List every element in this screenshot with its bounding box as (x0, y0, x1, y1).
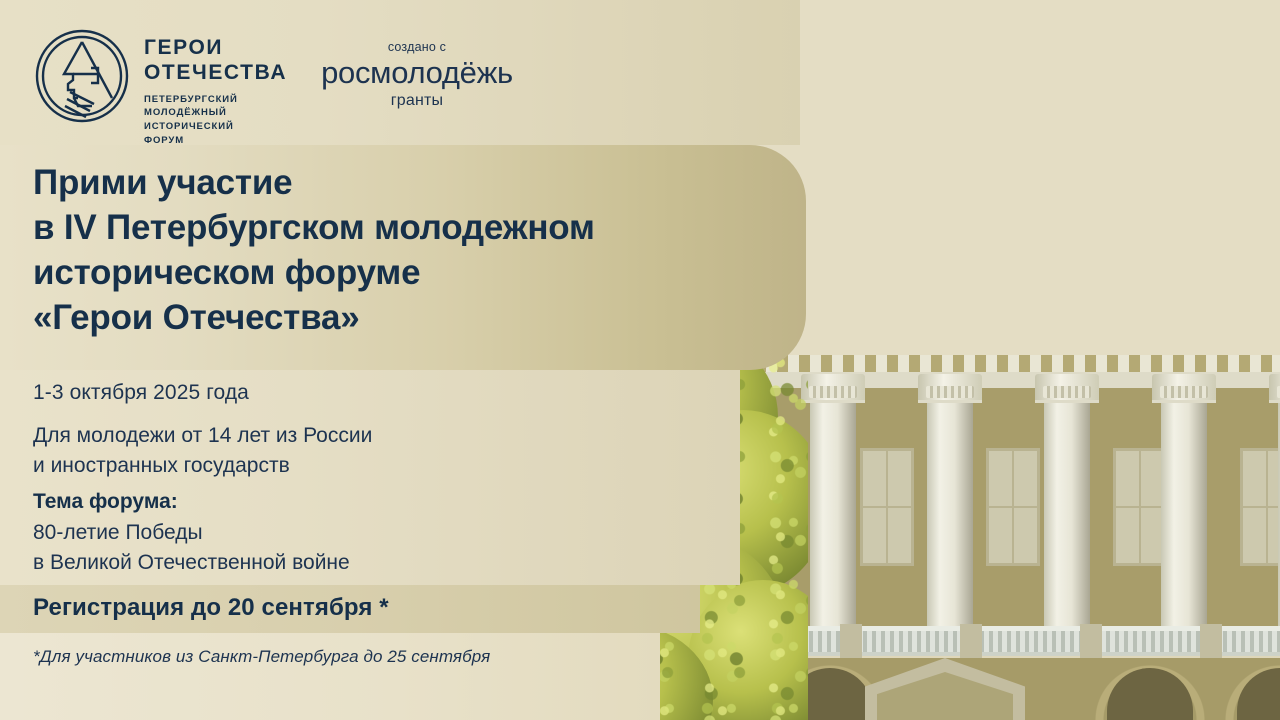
poster-canvas: ГЕРОИ ОТЕЧЕСТВА ПЕТЕРБУРГСКИЙ МОЛОДЁЖНЫЙ… (0, 0, 1280, 720)
audience-line-2: и иностранных государств (33, 451, 503, 481)
balustrade-post (1080, 624, 1102, 658)
heading-line-3: историческом форуме (33, 250, 793, 295)
flag-pole (995, 20, 1001, 205)
forum-title-line-2: ОТЕЧЕСТВА (144, 61, 287, 86)
flag-mast-base (982, 150, 1014, 222)
header: ГЕРОИ ОТЕЧЕСТВА ПЕТЕРБУРГСКИЙ МОЛОДЁЖНЫЙ… (34, 28, 513, 148)
forum-title-line-1: ГЕРОИ (144, 36, 287, 61)
column-capital (801, 374, 865, 400)
heading-line-4: «Герои Отечества» (33, 295, 793, 340)
column-capital (918, 374, 982, 400)
column (810, 388, 856, 626)
column (927, 388, 973, 626)
forum-subtitle-line-3: ИСТОРИЧЕСКИЙ (144, 120, 287, 134)
page-title: Прими участие в IV Петербургском молодеж… (33, 160, 793, 341)
heading-line-1: Прими участие (33, 160, 793, 205)
grants-label: гранты (321, 92, 513, 110)
column-capital (1152, 374, 1216, 400)
created-with-label: создано с (321, 40, 513, 54)
theme-line-1: 80-летие Победы (33, 518, 503, 548)
audience-line-1: Для молодежи от 14 лет из России (33, 421, 503, 451)
forum-subtitle-line-2: МОЛОДЁЖНЫЙ (144, 106, 287, 120)
russian-tricolor-flag-icon (1000, 27, 1110, 105)
soldier-profile-circle-icon (34, 28, 130, 124)
heading-line-2: в IV Петербургском молодежном (33, 205, 793, 250)
theme-description: 80-летие Победы в Великой Отечественной … (33, 518, 503, 578)
rosmolodezh-wordmark: росмолодёжь (321, 56, 513, 91)
event-dates: 1-3 октября 2025 года (33, 381, 249, 405)
column (1161, 388, 1207, 626)
balustrade-post (960, 624, 982, 658)
rosmolodezh-logo[interactable]: создано с росмолодёжь гранты (321, 28, 513, 110)
column-capital (1035, 374, 1099, 400)
balustrade-post (840, 624, 862, 658)
flag-pole-finial (992, 8, 1003, 30)
column (1044, 388, 1090, 626)
balustrade-post (1200, 624, 1222, 658)
registration-footnote: *Для участников из Санкт-Петербурга до 2… (33, 647, 490, 667)
forum-subtitle-line-4: ФОРУМ (144, 134, 287, 148)
forum-subtitle-line-1: ПЕТЕРБУРГСКИЙ (144, 93, 287, 107)
audience-description: Для молодежи от 14 лет из России и иност… (33, 421, 503, 481)
double-headed-eagle-icon (900, 250, 1010, 345)
forum-logo[interactable]: ГЕРОИ ОТЕЧЕСТВА ПЕТЕРБУРГСКИЙ МОЛОДЁЖНЫЙ… (34, 28, 287, 148)
column-capital (1269, 374, 1280, 400)
theme-label: Тема форума: (33, 490, 178, 514)
forum-logo-wordmark: ГЕРОИ ОТЕЧЕСТВА ПЕТЕРБУРГСКИЙ МОЛОДЁЖНЫЙ… (144, 28, 287, 148)
theme-line-2: в Великой Отечественной войне (33, 548, 503, 578)
registration-deadline: Регистрация до 20 сентября * (33, 594, 389, 622)
